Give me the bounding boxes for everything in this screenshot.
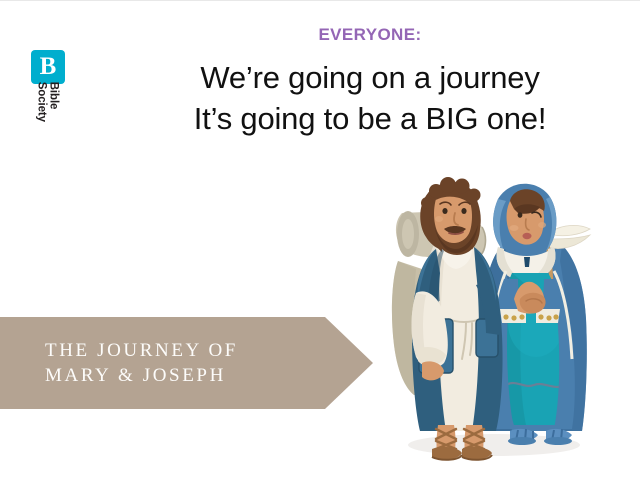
- page-title: We’re going on a journey It’s going to b…: [130, 58, 610, 140]
- logo-letter-b: B: [31, 50, 65, 84]
- banner-line-1: THE JOURNEY OF: [45, 338, 325, 363]
- headline-line-2: It’s going to be a BIG one!: [130, 99, 610, 140]
- logo-wordmark: Bible Society: [35, 82, 58, 158]
- mary-and-joseph-illustration: [386, 173, 596, 461]
- logo-wordmark-line-1: Bible: [47, 82, 59, 158]
- bible-society-logo: B Bible Society: [31, 50, 65, 154]
- banner-line-2: MARY & JOSEPH: [45, 363, 325, 388]
- headline-line-1: We’re going on a journey: [130, 58, 610, 99]
- journey-banner: THE JOURNEY OF MARY & JOSEPH: [0, 317, 373, 409]
- mary-head: [493, 184, 556, 251]
- logo-wordmark-line-2: Society: [35, 82, 47, 158]
- joseph-eye-left: [442, 208, 447, 214]
- joseph-eye-right: [461, 208, 466, 214]
- slide-canvas: B Bible Society EVERYONE: We’re going on…: [0, 0, 640, 479]
- speaker-cue-label: EVERYONE:: [150, 25, 590, 45]
- banner-text: THE JOURNEY OF MARY & JOSEPH: [45, 338, 325, 389]
- mary-eye: [518, 212, 523, 218]
